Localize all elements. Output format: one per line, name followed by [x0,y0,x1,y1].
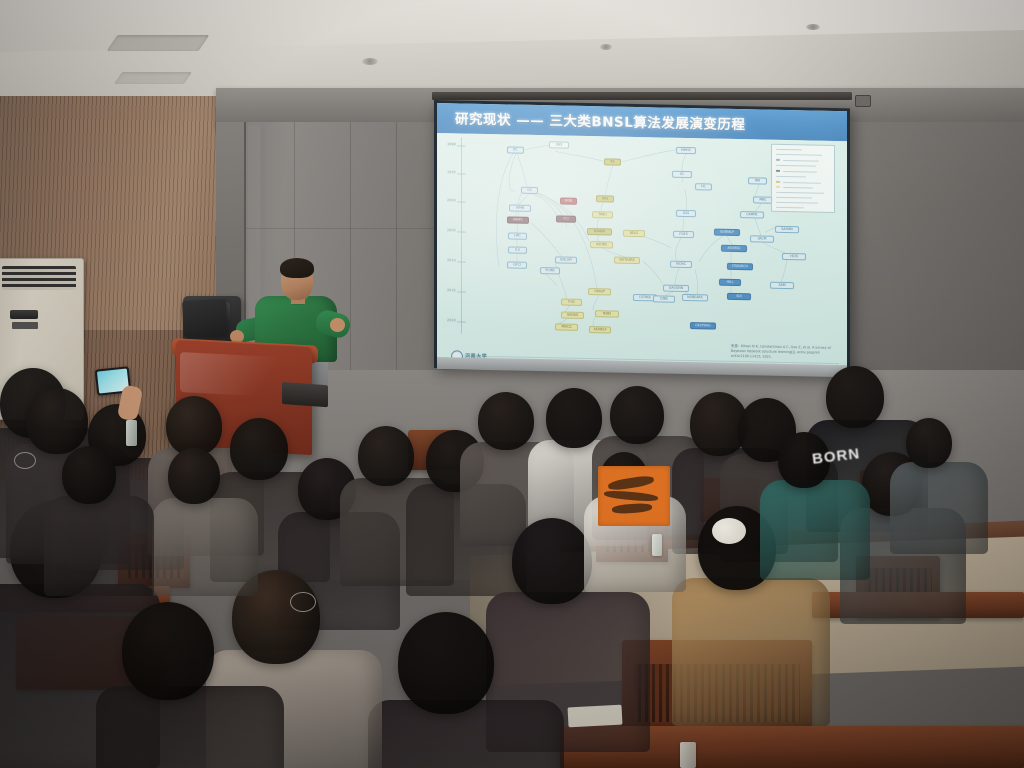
audience-member-head [478,392,534,450]
slide-body: 1988 1995 2000 2005 2010 2015 2020 [437,133,847,373]
wall-speaker-icon [855,95,871,107]
diagram-node: SAIYAN [775,226,799,233]
diagram-node: GS [521,187,538,194]
diagram-node: GADAG [561,311,584,318]
diagram-node: MMPC [507,216,529,223]
axis-tick-label: 2005 [447,228,456,232]
diagram-node: SAM [770,282,794,289]
diagram-node: ITSEARCH [727,263,753,271]
diagram-node: MMHC [676,147,696,154]
audience-member-head [62,446,116,504]
diagram-node: MBC [753,196,773,203]
projection-screen: 研究现状 —— 三大类BNSL算法发展演变历程 1988 1995 2000 2… [437,103,847,373]
air-conditioner-display-panel [10,310,38,319]
diagram-node: ASOBS3 [589,326,611,333]
audience-member-body [760,480,870,580]
diagram-node: SGS [549,141,569,148]
diagram-node: GSS [676,210,696,217]
diagram-node: HPC [508,232,527,239]
audience-member-body [152,498,258,596]
diagram-node: HILL [719,279,741,286]
ceiling-vent [107,35,210,51]
axis-tick-label: 1995 [447,170,456,174]
presenter-right-hand [330,318,345,332]
air-conditioner-grille-icon [2,266,76,290]
diagram-node: RSMAX [587,228,612,236]
diagram-node: M3B [560,197,577,204]
audience-member-head [826,366,884,428]
air-conditioner-badge [12,322,38,329]
diagram-node: ASOBS2 [721,245,747,253]
hair-scrunchie [712,518,746,544]
diagram-node: NOBEARS [682,294,708,302]
water-bottle [126,420,137,446]
diagram-node: DEEPDAG [690,322,716,330]
diagram-node: FGS [561,298,582,305]
podium-laptop [182,299,228,337]
graphic-tee-print [598,466,670,526]
diagram-node: DIBS [653,295,675,302]
slide-citation: 来源：Kitson N K, Constantinou A C, Guo Z, … [731,344,839,361]
diagram-node: SC [672,171,692,178]
water-bottle [680,742,696,768]
audience-member-head [398,612,494,714]
diagram-node: GFCI [507,261,527,268]
ceiling-vent [114,72,192,84]
diagram-node: PEKCS [555,323,578,330]
audience-member-head [906,418,952,468]
audience-member-head [230,418,288,480]
slide-title: 研究现状 —— 三大类BNSL算法发展演变历程 [455,107,745,133]
diagram-node: BDLSM [555,256,577,263]
screen-top-mount [432,92,852,100]
diagram-node: K2 [604,158,621,165]
podium-shelf [282,382,328,407]
diagram-node: GOBNILP [714,229,740,237]
axis-tick-label: 1988 [447,142,456,146]
audience-member-head [122,602,214,700]
audience-member-body [96,686,284,768]
diagram-node: PC [507,146,524,153]
ceiling-light-icon [806,24,820,30]
diagram-node: MCMC [670,261,692,268]
diagram-legend [771,144,835,213]
ceiling-light-icon [362,58,378,65]
audience-member-body [672,578,830,726]
diagram-node: RAI [748,177,767,184]
axis-tick-label: 2020 [447,318,456,322]
diagram-node: GRASP [588,288,611,295]
diagram-node: HCIS [782,253,806,260]
audience-member-body [890,462,988,554]
ceiling-light-icon [600,44,612,50]
diagram-node: ASOBS [590,241,613,248]
audience-member-head [166,396,222,456]
diagram-node: FGES [673,231,694,238]
diagram-node: SDI [727,293,751,300]
diagram-node: PCMB [540,267,560,274]
timeline-axis [461,137,462,333]
eyeglasses [14,452,36,469]
diagram-node: DAGGNN [663,285,689,293]
diagram-node: CAMML [740,211,764,218]
diagram-node: NOTEARS [614,257,640,265]
audience-member-head [168,448,220,504]
presenter-hair [280,258,314,278]
diagram-node: FCI [556,215,576,222]
diagram-node: TABU [592,211,613,218]
desk-papers [568,705,623,728]
diagram-node: ILS [508,246,527,253]
audience-member-body [44,496,154,596]
diagram-node: LRCM [750,235,774,242]
audience-member-head [358,426,414,486]
audience-member-head [610,386,664,444]
diagram-node: NSBS [595,310,619,317]
audience-member-head [546,388,602,448]
diagram-node: HC [695,183,712,190]
eyeglasses [290,592,316,612]
audience-member-head [26,388,88,454]
audience-member-head [512,518,592,604]
axis-tick-label: 2000 [447,198,456,202]
axis-tick-label: 2015 [447,288,456,292]
diagram-node: BDLS [623,230,645,237]
axis-tick-label: 2010 [447,258,456,262]
diagram-node: GES [596,195,614,202]
diagram-node: IAMB [509,204,531,211]
lecture-hall-photo: 研究现状 —— 三大类BNSL算法发展演变历程 1988 1995 2000 2… [0,0,1024,768]
water-bottle [652,534,662,556]
